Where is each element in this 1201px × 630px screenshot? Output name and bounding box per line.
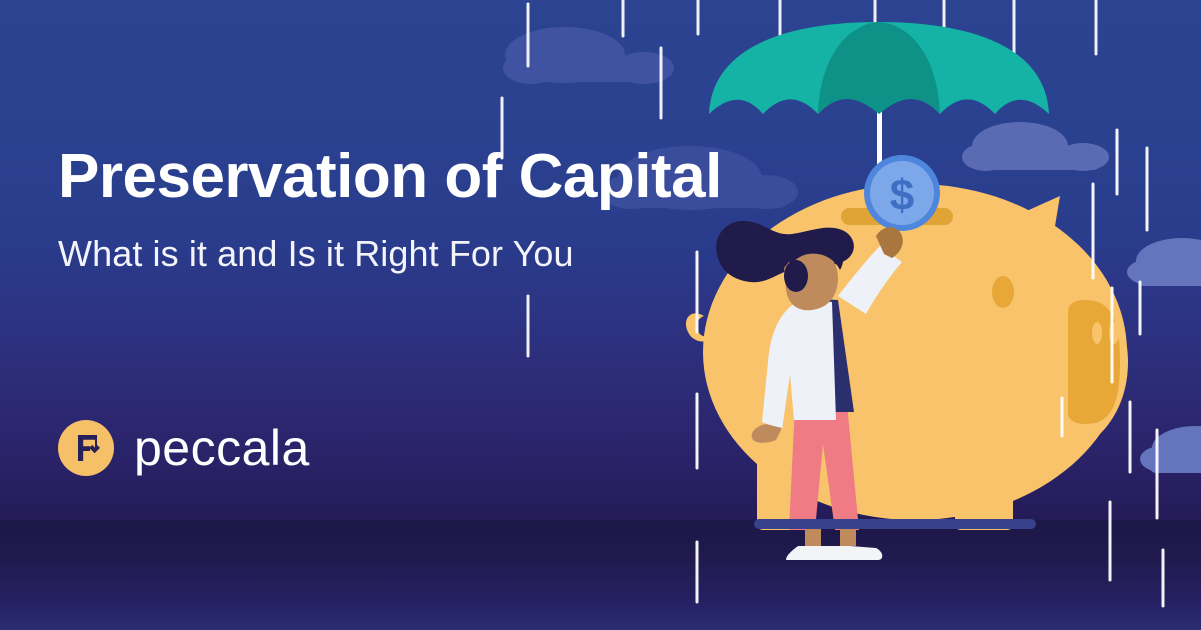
person-shoe-right <box>832 546 882 560</box>
page-title: Preservation of Capital <box>58 146 758 208</box>
person-hair-side <box>784 260 808 292</box>
piggy-eye <box>992 276 1014 308</box>
peccala-p-arrow-icon <box>58 420 114 476</box>
page-subtitle: What is it and Is it Right For You <box>58 234 758 274</box>
cloud-right-icon <box>1127 238 1201 286</box>
cloud-far-right-icon <box>1140 426 1201 473</box>
cloud-upper-right-icon <box>962 122 1109 171</box>
brand-logo-lockup[interactable]: peccala <box>58 420 310 476</box>
ground-line <box>754 519 1036 529</box>
marketing-banner: $ <box>0 0 1201 630</box>
illustration-scene: $ <box>0 0 1201 630</box>
coin-icon: $ <box>864 155 940 231</box>
brand-wordmark: peccala <box>134 423 310 473</box>
svg-text:$: $ <box>890 171 914 220</box>
headline-block: Preservation of Capital What is it and I… <box>58 146 758 274</box>
piggy-nostril-left <box>1092 322 1102 344</box>
